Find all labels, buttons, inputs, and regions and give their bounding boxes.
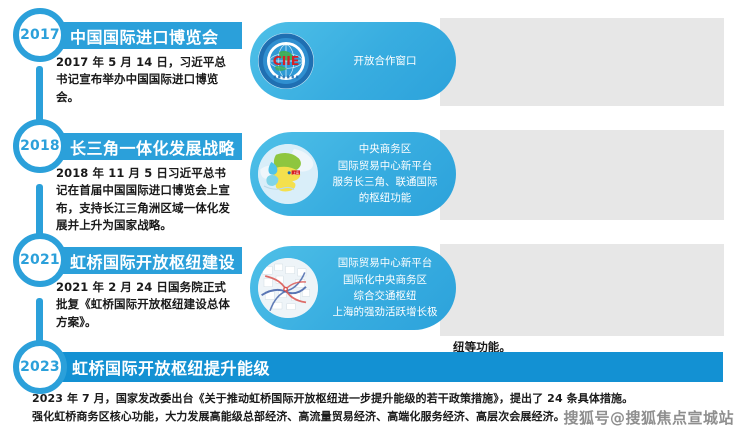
year-label-2017: 2017: [20, 28, 60, 42]
detail-panel-2021: [440, 244, 724, 336]
title-bar-2023: 虹桥国际开放枢纽提升能级: [36, 352, 723, 382]
svg-text:CIIE: CIIE: [273, 54, 300, 68]
year-label-2023: 2023: [20, 360, 60, 374]
summary-text-2017: 2017 年 5 月 14 日，习近平总书记宣布举办中国国际进口博览会。: [56, 54, 234, 106]
summary-text-2018: 2018 年 11 月 5 日习近平总书记在首届中国国际进口博览会上宣布，支持长…: [56, 165, 234, 234]
transport-hub-map-icon: [258, 258, 318, 318]
ciie-logo-icon: CIIE: [258, 33, 314, 89]
year-badge-2021: 2021: [13, 233, 67, 287]
year-label-2018: 2018: [20, 139, 60, 153]
highlight-capsule-2017: CIIE 开放合作窗口: [250, 22, 456, 100]
title-text-2023: 虹桥国际开放枢纽提升能级: [72, 355, 270, 379]
watermark-text: 搜狐号@搜狐焦点宣城站: [563, 407, 734, 428]
title-text-2017: 中国国际进口博览会: [70, 24, 219, 48]
summary-text-2021: 2021 年 2 月 24 日国务院正式批复《虹桥国际开放枢纽建设总体方案》。: [56, 279, 234, 331]
yangtze-delta-map-icon: 上海: [258, 144, 318, 204]
year-badge-2017: 2017: [13, 8, 67, 62]
title-text-2021: 虹桥国际开放枢纽建设: [70, 249, 235, 273]
highlight-capsule-2018: 上海 中央商务区 国际贸易中心新平台 服务长三角、联通国际 的枢纽功能: [250, 132, 456, 216]
detail-panel-2017: [440, 18, 724, 106]
highlight-capsule-2021: 国际贸易中心新平台 国际化中央商务区 综合交通枢纽 上海的强劲活跃增长极: [250, 246, 456, 330]
year-badge-2023: 2023: [13, 340, 67, 394]
summary-text-2023-line1: 2023 年 7 月，国家发改委出台《关于推动虹桥国际开放枢纽进一步提升能级的若…: [32, 390, 732, 408]
year-badge-2018: 2018: [13, 119, 67, 173]
infographic-canvas: 2018 年起，虹桥商务区成为中国国际进口博览会的永久举办地，是对内对外开放的重…: [0, 0, 740, 432]
year-label-2021: 2021: [20, 253, 60, 267]
detail-panel-2018: [440, 130, 724, 220]
svg-text:上海: 上海: [293, 170, 299, 175]
title-text-2018: 长三角一体化发展战略: [70, 135, 235, 159]
